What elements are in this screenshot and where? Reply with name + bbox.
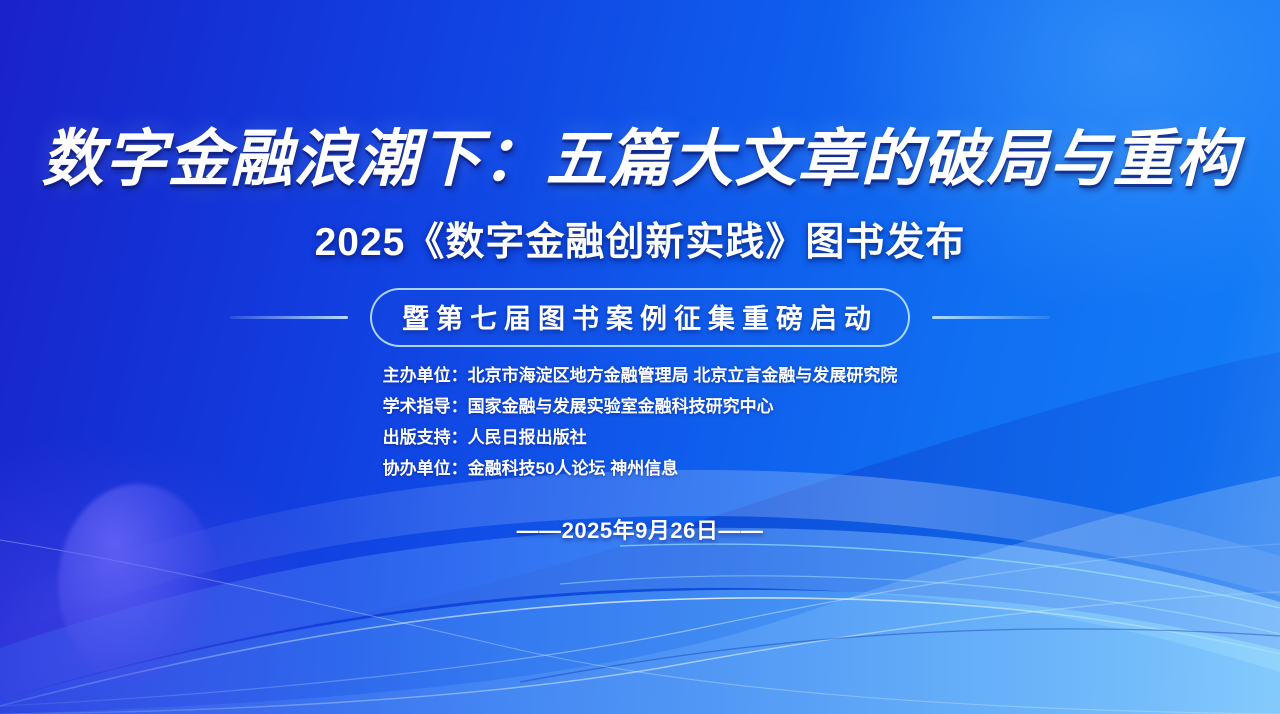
academic-guidance-line: 学术指导：国家金融与发展实验室金融科技研究中心 — [383, 391, 898, 422]
page-subtitle: 2025《数字金融创新实践》图书发布 — [0, 211, 1280, 267]
poster-background: 数字金融浪潮下：五篇大文章的破局与重构 2025《数字金融创新实践》图书发布 暨… — [0, 0, 1280, 714]
divider-line-left — [230, 316, 348, 319]
event-date: ——2025年9月26日—— — [517, 513, 764, 545]
date-row: ——2025年9月26日—— — [0, 513, 1280, 545]
organizer-line: 主办单位：北京市海淀区地方金融管理局 北京立言金融与发展研究院 — [383, 360, 898, 391]
pill-banner-row: 暨第七届图书案例征集重磅启动 — [0, 288, 1280, 347]
publishing-support-line: 出版支持：人民日报出版社 — [383, 422, 898, 453]
organization-block: 主办单位：北京市海淀区地方金融管理局 北京立言金融与发展研究院 学术指导：国家金… — [0, 360, 1280, 484]
poster-content: 数字金融浪潮下：五篇大文章的破局与重构 2025《数字金融创新实践》图书发布 暨… — [0, 0, 1280, 714]
page-title: 数字金融浪潮下：五篇大文章的破局与重构 — [0, 108, 1280, 198]
co-organizer-line: 协办单位：金融科技50人论坛 神州信息 — [383, 453, 898, 484]
pill-banner: 暨第七届图书案例征集重磅启动 — [370, 288, 910, 347]
pill-banner-label: 暨第七届图书案例征集重磅启动 — [402, 297, 878, 336]
divider-line-right — [932, 316, 1050, 319]
